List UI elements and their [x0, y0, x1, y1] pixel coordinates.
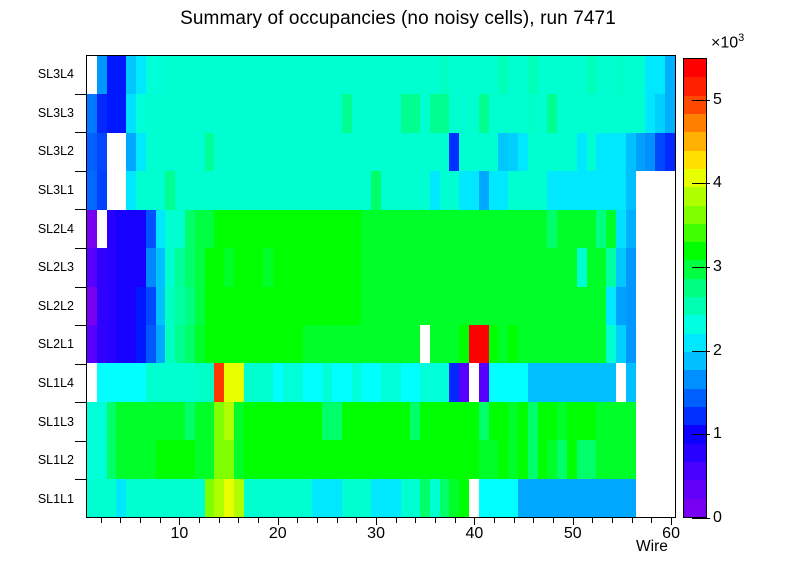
y-axis-tick [75, 171, 86, 172]
heatmap-cell [165, 133, 175, 171]
heatmap-cell [391, 325, 401, 363]
heatmap-cell [587, 363, 597, 401]
colorbar-label-3: 3 [713, 258, 722, 276]
y-axis-label-sl1l4: SL1L4 [38, 376, 74, 390]
heatmap-cell [410, 325, 420, 363]
heatmap-cell [391, 94, 401, 132]
heatmap-cell [303, 325, 313, 363]
heatmap-cell [479, 479, 489, 517]
heatmap-cell [126, 402, 136, 440]
heatmap-cell [567, 133, 577, 171]
heatmap-cell [126, 171, 136, 209]
heatmap-cell [224, 94, 234, 132]
heatmap-cell [577, 210, 587, 248]
heatmap-cell [547, 94, 557, 132]
heatmap-cell [156, 210, 166, 248]
heatmap-cell [616, 94, 626, 132]
heatmap-cell [567, 94, 577, 132]
heatmap-cell [479, 325, 489, 363]
heatmap-cell [312, 363, 322, 401]
heatmap-cell [312, 133, 322, 171]
heatmap-row [87, 479, 675, 517]
heatmap-cell [107, 133, 117, 171]
heatmap-cell [342, 210, 352, 248]
heatmap-cell [538, 210, 548, 248]
heatmap-cell [596, 171, 606, 209]
heatmap-cell [508, 325, 518, 363]
heatmap-cell [185, 133, 195, 171]
heatmap-cell [322, 402, 332, 440]
heatmap-cell [283, 402, 293, 440]
heatmap-cell [665, 94, 675, 132]
heatmap-cell [547, 325, 557, 363]
heatmap-row [87, 440, 675, 478]
heatmap-cell [645, 325, 655, 363]
heatmap-cell [469, 325, 479, 363]
heatmap-cell [655, 133, 665, 171]
heatmap-cell [508, 210, 518, 248]
heatmap-cell [508, 363, 518, 401]
heatmap-cell [626, 171, 636, 209]
heatmap-cell [273, 402, 283, 440]
colorbar-label-1: 1 [713, 425, 722, 443]
heatmap-cell [224, 325, 234, 363]
heatmap-cell [391, 56, 401, 94]
heatmap-cell [97, 402, 107, 440]
heatmap-cell [518, 287, 528, 325]
heatmap-cell [596, 325, 606, 363]
heatmap-row [87, 133, 675, 171]
heatmap-cell [636, 94, 646, 132]
heatmap-cell [185, 94, 195, 132]
heatmap-cell [587, 440, 597, 478]
heatmap-cell [107, 440, 117, 478]
heatmap-cell [498, 56, 508, 94]
x-axis-tick [474, 518, 475, 525]
heatmap-cell [538, 363, 548, 401]
heatmap-cell [263, 171, 273, 209]
heatmap-cell [616, 248, 626, 286]
heatmap-cell [587, 402, 597, 440]
heatmap-cell [116, 402, 126, 440]
heatmap-cell [469, 248, 479, 286]
heatmap-cell [449, 171, 459, 209]
heatmap-cell [420, 94, 430, 132]
heatmap-cell [312, 402, 322, 440]
x-axis-tick [435, 518, 436, 523]
heatmap-cell [440, 287, 450, 325]
heatmap-cell [616, 171, 626, 209]
heatmap-cell [303, 363, 313, 401]
heatmap-cell [577, 287, 587, 325]
heatmap-cell [107, 325, 117, 363]
heatmap-cell [577, 402, 587, 440]
heatmap-cell [430, 56, 440, 94]
heatmap-cell [205, 402, 215, 440]
heatmap-cell [175, 133, 185, 171]
heatmap-cell [283, 325, 293, 363]
heatmap-cell [449, 287, 459, 325]
heatmap-cell [449, 440, 459, 478]
heatmap-cell [665, 56, 675, 94]
heatmap-cell [146, 479, 156, 517]
heatmap-cell [498, 171, 508, 209]
x-axis-tick [219, 518, 220, 523]
heatmap-cell [263, 402, 273, 440]
heatmap-cell [146, 325, 156, 363]
heatmap-cell [489, 440, 499, 478]
x-axis-tick [455, 518, 456, 523]
heatmap-cell [440, 325, 450, 363]
heatmap-cell [273, 479, 283, 517]
heatmap-cell [381, 171, 391, 209]
heatmap-cell [332, 133, 342, 171]
heatmap-cell [498, 133, 508, 171]
heatmap-cell [577, 479, 587, 517]
heatmap-cell [381, 325, 391, 363]
heatmap-cell [498, 479, 508, 517]
heatmap-cell [479, 133, 489, 171]
heatmap-cell [146, 56, 156, 94]
heatmap-cell [547, 287, 557, 325]
y-axis-label-sl2l2: SL2L2 [38, 299, 74, 313]
heatmap-cell [645, 287, 655, 325]
heatmap-cell [273, 133, 283, 171]
heatmap-cell [205, 171, 215, 209]
heatmap-cell [528, 94, 538, 132]
heatmap-cell [293, 171, 303, 209]
heatmap-cell [352, 363, 362, 401]
heatmap-cell [498, 210, 508, 248]
heatmap-cell [214, 133, 224, 171]
heatmap-cell [352, 479, 362, 517]
heatmap-cell [391, 210, 401, 248]
heatmap-cell [547, 440, 557, 478]
heatmap-cell [322, 56, 332, 94]
heatmap-cell [381, 363, 391, 401]
heatmap-cell [361, 248, 371, 286]
heatmap-cell [538, 133, 548, 171]
x-axis-tick [514, 518, 515, 523]
heatmap-cell [97, 287, 107, 325]
heatmap-cell [636, 402, 646, 440]
heatmap-cell [636, 363, 646, 401]
heatmap-cell [244, 479, 254, 517]
heatmap-cell [254, 94, 264, 132]
heatmap-cell [596, 94, 606, 132]
heatmap-cell [107, 248, 117, 286]
heatmap-cell [518, 171, 528, 209]
heatmap-cell [136, 479, 146, 517]
heatmap-cell [322, 325, 332, 363]
x-axis: 102030405060 [86, 518, 677, 558]
heatmap-cell [293, 402, 303, 440]
heatmap-row [87, 325, 675, 363]
heatmap-cell [116, 171, 126, 209]
heatmap-cell [636, 248, 646, 286]
heatmap-cell [420, 248, 430, 286]
heatmap-cell [234, 402, 244, 440]
heatmap-cell [116, 287, 126, 325]
heatmap-cell [381, 56, 391, 94]
heatmap-cell [283, 287, 293, 325]
heatmap-cell [440, 133, 450, 171]
heatmap-cell [469, 363, 479, 401]
x-axis-tick [376, 518, 377, 525]
heatmap-cell [146, 171, 156, 209]
heatmap-cell [205, 440, 215, 478]
heatmap-cell [332, 56, 342, 94]
heatmap-cell [322, 287, 332, 325]
heatmap-cell [616, 402, 626, 440]
heatmap-cell [244, 287, 254, 325]
heatmap-cell [283, 363, 293, 401]
heatmap-cell [97, 133, 107, 171]
heatmap-cell [332, 479, 342, 517]
heatmap-cell [263, 325, 273, 363]
heatmap-cell [401, 171, 411, 209]
heatmap-cell [165, 402, 175, 440]
heatmap-row [87, 56, 675, 94]
heatmap-cell [126, 363, 136, 401]
heatmap-cell [126, 248, 136, 286]
heatmap-cell [107, 402, 117, 440]
heatmap-cell [430, 210, 440, 248]
heatmap-cell [567, 479, 577, 517]
heatmap-cell [312, 56, 322, 94]
heatmap-cell [312, 210, 322, 248]
heatmap-cell [665, 479, 675, 517]
heatmap-cell [616, 133, 626, 171]
heatmap-cell [234, 325, 244, 363]
heatmap-cell [234, 133, 244, 171]
heatmap-cell [459, 56, 469, 94]
heatmap-cell [361, 363, 371, 401]
heatmap-cell [293, 56, 303, 94]
colorbar-exponent-label: ×103 [711, 32, 744, 52]
heatmap-cell [195, 325, 205, 363]
heatmap-cell [596, 363, 606, 401]
heatmap-cell [234, 363, 244, 401]
heatmap-cell [381, 402, 391, 440]
heatmap-cell [655, 94, 665, 132]
heatmap-cell [244, 171, 254, 209]
heatmap-cell [136, 325, 146, 363]
heatmap-cell [391, 440, 401, 478]
heatmap-cell [430, 287, 440, 325]
heatmap-cell [303, 133, 313, 171]
heatmap-cell [557, 56, 567, 94]
heatmap-cell [156, 440, 166, 478]
heatmap-cell [371, 56, 381, 94]
heatmap-cell [146, 363, 156, 401]
heatmap-cell [636, 325, 646, 363]
heatmap-cell [156, 133, 166, 171]
heatmap-cell [645, 210, 655, 248]
heatmap-cell [430, 479, 440, 517]
heatmap-cell [195, 402, 205, 440]
heatmap-cell [244, 440, 254, 478]
heatmap-cell [146, 440, 156, 478]
heatmap-cell [479, 248, 489, 286]
x-axis-tick [160, 518, 161, 523]
y-axis-label-sl3l1: SL3L1 [38, 183, 74, 197]
heatmap-cell [626, 325, 636, 363]
heatmap-cell [596, 479, 606, 517]
colorbar-tick [692, 351, 710, 352]
heatmap-cell [410, 287, 420, 325]
heatmap-cell [322, 94, 332, 132]
heatmap-cell [547, 363, 557, 401]
heatmap-cell [352, 210, 362, 248]
heatmap-cell [596, 248, 606, 286]
heatmap-cell [283, 248, 293, 286]
heatmap-cell [97, 363, 107, 401]
heatmap-cell [587, 171, 597, 209]
heatmap-cell [449, 94, 459, 132]
heatmap-cell [322, 171, 332, 209]
heatmap-cell [518, 210, 528, 248]
heatmap-cell [107, 287, 117, 325]
heatmap-cell [156, 325, 166, 363]
y-axis-tick [75, 94, 86, 95]
heatmap-cell [626, 248, 636, 286]
heatmap-cell [587, 133, 597, 171]
heatmap-cell [214, 402, 224, 440]
heatmap-cell [547, 248, 557, 286]
heatmap-cell [205, 248, 215, 286]
heatmap-cell [342, 171, 352, 209]
heatmap-cell [273, 325, 283, 363]
heatmap-cell [489, 133, 499, 171]
heatmap-cell [175, 248, 185, 286]
heatmap-cell [116, 210, 126, 248]
heatmap-cell [479, 94, 489, 132]
heatmap-cell [371, 440, 381, 478]
heatmap-cell [410, 363, 420, 401]
heatmap-cell [665, 171, 675, 209]
heatmap-cell [577, 363, 587, 401]
heatmap-cell [332, 171, 342, 209]
heatmap-cell [449, 56, 459, 94]
heatmap-cell [293, 440, 303, 478]
heatmap-cell [410, 171, 420, 209]
heatmap-cell [165, 479, 175, 517]
heatmap-cell [352, 248, 362, 286]
heatmap-cell [420, 325, 430, 363]
heatmap-cell [342, 402, 352, 440]
heatmap-cell [567, 210, 577, 248]
heatmap-cell [449, 363, 459, 401]
heatmap-cell [498, 363, 508, 401]
heatmap-cell [185, 248, 195, 286]
colorbar-tick [692, 100, 710, 101]
heatmap-cell [420, 133, 430, 171]
heatmap-cell [156, 248, 166, 286]
heatmap-cell [391, 287, 401, 325]
heatmap-cell [254, 287, 264, 325]
x-axis-tick [258, 518, 259, 523]
heatmap-cell [538, 56, 548, 94]
heatmap-cell [87, 171, 97, 209]
heatmap-cell [165, 287, 175, 325]
heatmap-cell [342, 56, 352, 94]
heatmap-cell [577, 56, 587, 94]
heatmap-cell [342, 94, 352, 132]
heatmap-cell [596, 133, 606, 171]
y-axis-tick [75, 364, 86, 365]
x-axis-tick [632, 518, 633, 523]
heatmap-cell [528, 440, 538, 478]
heatmap-cell [401, 402, 411, 440]
heatmap-row [87, 94, 675, 132]
heatmap-cell [175, 325, 185, 363]
heatmap-cell [626, 287, 636, 325]
heatmap-cell [361, 210, 371, 248]
heatmap-cell [322, 133, 332, 171]
heatmap-cell [489, 94, 499, 132]
heatmap-cell [489, 248, 499, 286]
heatmap-cell [371, 133, 381, 171]
heatmap-cell [165, 248, 175, 286]
heatmap-cell [332, 248, 342, 286]
heatmap-cell [665, 363, 675, 401]
heatmap-cell [645, 440, 655, 478]
heatmap-cell [508, 133, 518, 171]
heatmap-cell [636, 210, 646, 248]
heatmap-cell [626, 210, 636, 248]
heatmap-cell [293, 133, 303, 171]
heatmap-cell [254, 325, 264, 363]
heatmap-cell [498, 440, 508, 478]
heatmap-cell [254, 210, 264, 248]
heatmap-cell [547, 210, 557, 248]
heatmap-cell [156, 171, 166, 209]
heatmap-row [87, 248, 675, 286]
heatmap-cell [254, 171, 264, 209]
x-axis-tick [317, 518, 318, 523]
heatmap-cell [303, 479, 313, 517]
heatmap-cell [420, 440, 430, 478]
heatmap-cell [489, 210, 499, 248]
y-axis-tick [75, 402, 86, 403]
heatmap-cell [420, 402, 430, 440]
x-axis-tick [671, 518, 672, 525]
heatmap-cell [469, 56, 479, 94]
heatmap-cell [361, 440, 371, 478]
heatmap-cell [567, 248, 577, 286]
heatmap-cell [440, 210, 450, 248]
heatmap-cell [293, 94, 303, 132]
heatmap-cell [254, 402, 264, 440]
colorbar-tick [692, 183, 710, 184]
heatmap-cell [557, 94, 567, 132]
heatmap-cell [283, 94, 293, 132]
heatmap-cell [538, 94, 548, 132]
x-axis-label-10: 10 [171, 525, 189, 543]
heatmap-cell [195, 363, 205, 401]
heatmap-cell [244, 325, 254, 363]
heatmap-cell [361, 287, 371, 325]
heatmap-cell [303, 287, 313, 325]
heatmap-cell [126, 325, 136, 363]
heatmap-cell [195, 171, 205, 209]
heatmap-cell [655, 325, 665, 363]
heatmap-cell [156, 479, 166, 517]
y-axis-tick [75, 132, 86, 133]
heatmap-cell [185, 363, 195, 401]
heatmap-cell [371, 363, 381, 401]
